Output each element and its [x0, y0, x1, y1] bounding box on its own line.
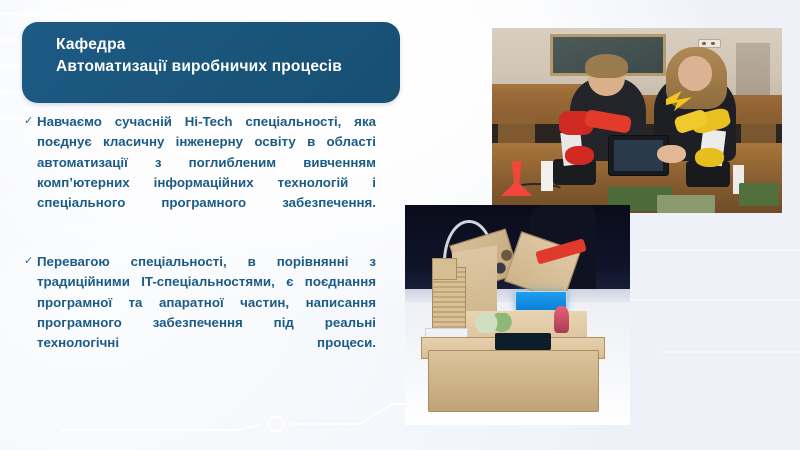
plywood-base-box [428, 350, 599, 412]
slide-title-card: Кафедра Автоматизації виробничих процесі… [22, 22, 400, 103]
students-with-robotic-arms-photo [492, 28, 782, 213]
title-line-1: Кафедра [56, 34, 400, 56]
slide-canvas: Кафедра Автоматизації виробничих процесі… [0, 0, 800, 450]
model-figurine [554, 306, 570, 332]
student-right-head [678, 56, 713, 91]
checkmark-icon: ✓ [24, 113, 33, 130]
white-printed-stand-left [541, 161, 553, 191]
plywood-smart-house-model-photo [405, 205, 630, 425]
student-right-hand [657, 145, 686, 164]
bullet-text: Навчаємо сучасній Hi-Tech спеціальності,… [37, 112, 376, 234]
red-robot-arm-joint [565, 146, 594, 165]
control-circuit-board [495, 333, 551, 351]
bullet-item: ✓ Перевагою спеціальності, в порівнянні … [24, 252, 376, 374]
control-box [657, 195, 715, 214]
body-text-column: ✓ Навчаємо сучасній Hi-Tech спеціальност… [24, 112, 376, 374]
plywood-ladder [432, 258, 457, 280]
checkmark-icon: ✓ [24, 253, 33, 270]
model-plants [475, 313, 513, 333]
title-line-2: Автоматизації виробничих процесів [56, 56, 400, 78]
bullet-text: Перевагою спеціальності, в порівнянні з … [37, 252, 376, 374]
circuit-board-right [739, 183, 780, 205]
bullet-item: ✓ Навчаємо сучасній Hi-Tech спеціальност… [24, 112, 376, 234]
yellow-robot-arm-joint [695, 148, 724, 167]
student-left-hair [585, 54, 629, 78]
